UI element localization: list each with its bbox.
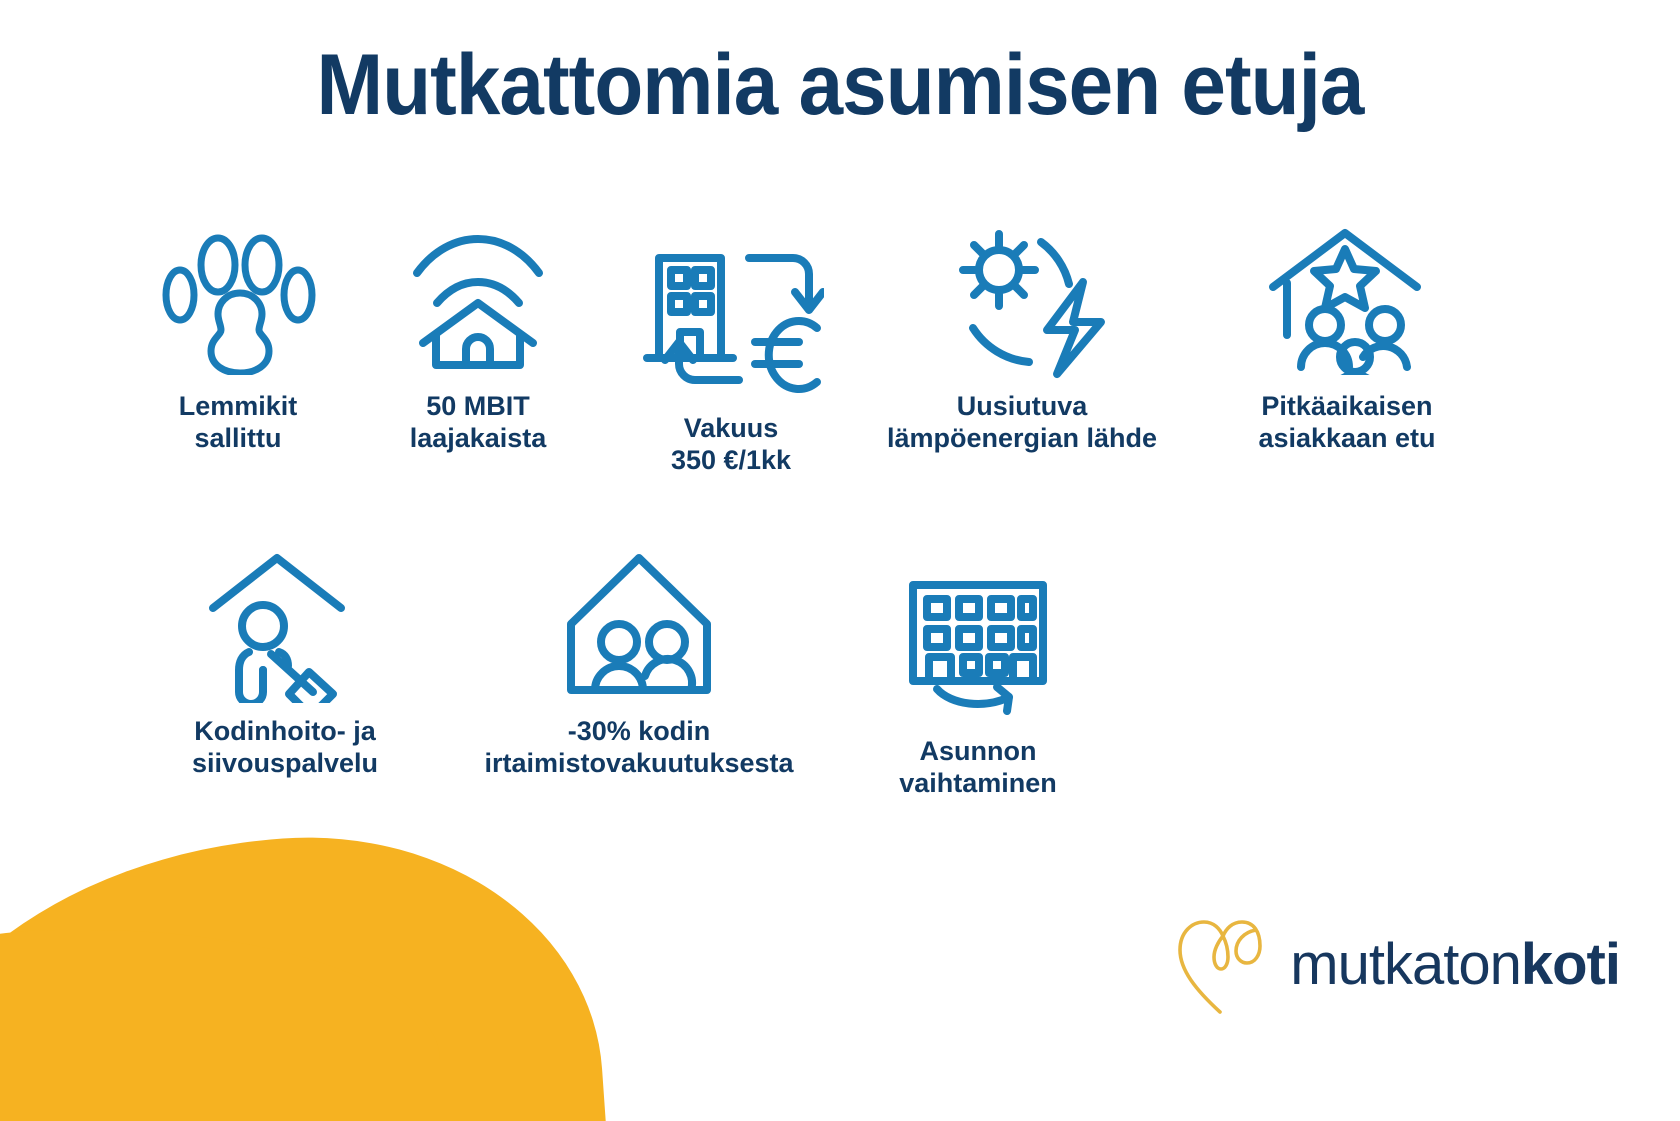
benefit-label: 50 MBIT laajakaista [410, 391, 547, 454]
roof-star-people-icon [1267, 215, 1427, 385]
benefits-row-1: Lemmikit sallittu 50 MBIT laajakaista [120, 215, 1560, 476]
house-two-people-icon [559, 540, 719, 710]
brand-name-light: mutkaton [1290, 932, 1521, 997]
heart-outline-icon [1174, 908, 1266, 1021]
benefit-item-pets: Lemmikit sallittu [120, 215, 356, 476]
benefit-label: Lemmikit sallittu [179, 391, 298, 454]
paw-print-icon [158, 215, 318, 385]
benefit-item-loyalty: Pitkäaikaisen asiakkaan etu [1182, 215, 1512, 476]
sun-lightning-icon [937, 215, 1107, 385]
infographic-canvas: Mutkattomia asumisen etuja Lemmikit sall… [0, 0, 1680, 1121]
benefit-label: Kodinhoito- ja siivouspalvelu [192, 716, 378, 779]
benefit-label: Vakuus 350 €/1kk [671, 413, 791, 476]
benefits-row-2: Kodinhoito- ja siivouspalvelu -30% kodin… [120, 540, 1220, 799]
benefit-label: Pitkäaikaisen asiakkaan etu [1258, 391, 1435, 454]
brand-logo: mutkatonkoti [1174, 908, 1620, 1021]
roof-cleaner-icon [205, 540, 365, 710]
building-euro-exchange-icon [639, 237, 824, 407]
benefit-item-apartment-swap: Asunnon vaihtaminen [828, 540, 1128, 799]
benefit-label: -30% kodin irtaimistovakuutuksesta [484, 716, 793, 779]
brand-wordmark: mutkatonkoti [1290, 931, 1620, 998]
benefit-item-cleaning: Kodinhoito- ja siivouspalvelu [120, 540, 450, 799]
benefit-label: Uusiutuva lämpöenergian lähde [887, 391, 1157, 454]
brand-name-bold: koti [1521, 932, 1620, 997]
benefit-item-renewable-energy: Uusiutuva lämpöenergian lähde [862, 215, 1182, 476]
wifi-house-icon [403, 215, 553, 385]
benefit-item-deposit: Vakuus 350 €/1kk [600, 215, 862, 476]
apartment-swap-icon [901, 560, 1056, 730]
benefit-label: Asunnon vaihtaminen [899, 736, 1057, 799]
page-title: Mutkattomia asumisen etuja [59, 36, 1621, 135]
benefit-item-broadband: 50 MBIT laajakaista [356, 215, 600, 476]
benefit-item-home-insurance: -30% kodin irtaimistovakuutuksesta [450, 540, 828, 799]
